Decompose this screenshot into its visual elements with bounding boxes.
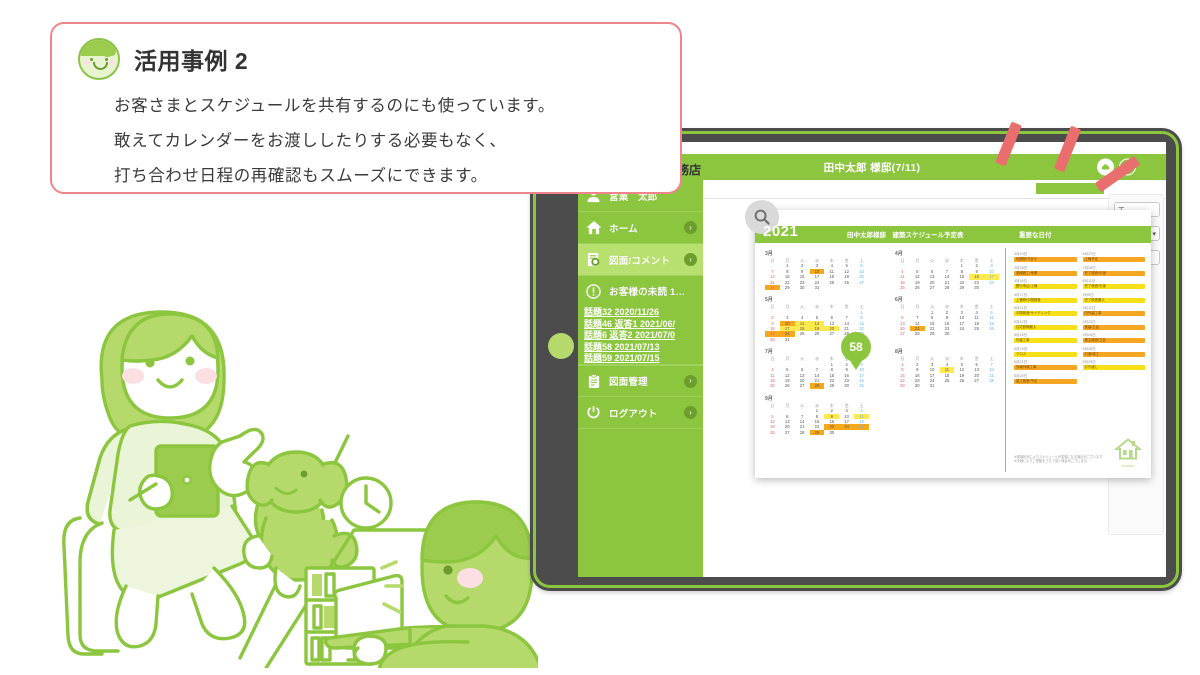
month-table: 日月火水木金土123456789101112131415161718192021… xyxy=(895,304,999,336)
sidebar-item-home[interactable]: ホーム › xyxy=(578,212,703,244)
important-date-item: 9月29日お引渡し xyxy=(1083,360,1146,370)
month-block: 4月日月火水木金土1234567891011121314151617181920… xyxy=(895,250,999,290)
callout-header: 活用事例 2 xyxy=(52,24,680,80)
calendar-day[interactable]: 29 xyxy=(925,331,940,336)
calendar-day[interactable]: 26 xyxy=(780,383,795,388)
important-date-label: 5月17日 xyxy=(1014,320,1077,325)
important-date-item: 5月18日内装工事 xyxy=(1014,333,1077,343)
calendar-day[interactable]: 26 xyxy=(910,285,925,290)
unread-link[interactable]: 話題58 2021/07/13 xyxy=(584,342,703,354)
calendar-day[interactable]: 28 xyxy=(940,285,955,290)
calendar-title: 田中太郎様邸 建築スケジュール予定表 xyxy=(847,229,964,239)
calendar-day[interactable]: 30 xyxy=(765,337,780,342)
tablet-device: 田中太郎 様邸(7/11) 務店 営業 太郎 xyxy=(530,128,1182,591)
calendar-day[interactable] xyxy=(795,337,810,342)
home-button[interactable] xyxy=(548,333,574,359)
app-body: 務店 営業 太郎 ホーム › xyxy=(578,180,1166,577)
important-date-bar: 上棟祭/中間検査 xyxy=(1014,298,1077,303)
calendar-day[interactable] xyxy=(954,383,969,388)
illustration xyxy=(18,268,538,668)
calendar-day[interactable]: 29 xyxy=(810,430,825,435)
calendar-day[interactable]: 31 xyxy=(780,337,795,342)
important-date-bar: 内外装工事 xyxy=(1083,311,1146,316)
important-date-bar: 竣工検査/予定 xyxy=(1014,379,1077,384)
calendar-day[interactable]: 29 xyxy=(824,383,839,388)
important-date-bar: 銀行申込/上棟 xyxy=(1014,284,1077,289)
calendar-day[interactable]: 27 xyxy=(780,430,795,435)
month-grid-area: 58 3月日月火水木金土1234567891011121314151617181… xyxy=(755,246,1005,478)
pin-tail xyxy=(849,359,863,370)
calendar-day[interactable]: 27 xyxy=(895,331,910,336)
important-date-bar: 地鎮祭/착공식 xyxy=(1014,257,1077,262)
calendar-day[interactable]: 26 xyxy=(765,430,780,435)
toolbar-green-bar xyxy=(1036,183,1104,194)
chevron-right-icon[interactable]: › xyxy=(684,221,697,234)
calendar-day[interactable]: 30 xyxy=(795,285,810,290)
calendar-day[interactable] xyxy=(854,430,869,435)
month-block: 6月日月火水木金土1234567891011121314151617181920… xyxy=(895,296,999,342)
calendar-header-bar: 田中太郎様邸 建築スケジュール予定表 重要な日付 xyxy=(755,226,1151,243)
important-dates-panel: 3月10日地鎮祭/착공식3月28日基礎着工/地業4月16日銀行申込/上棟4月17… xyxy=(1005,248,1151,472)
calendar-day[interactable]: 30 xyxy=(910,383,925,388)
sidebar-item-logout[interactable]: ログアウト › xyxy=(578,397,703,429)
main-content: て ▾ 0 › 田中太郎様邸 建築スケジュール予定表 重要な日付 xyxy=(703,180,1166,577)
calendar-day[interactable]: 28 xyxy=(810,383,825,388)
important-date-item: 7月28日完了検査/引渡 xyxy=(1083,266,1146,276)
important-date-item: 9月11日内外装工事 xyxy=(1083,306,1146,316)
important-date-item: 9月23日美装/立会 xyxy=(1083,320,1146,330)
callout-title: 活用事例 2 xyxy=(134,42,248,76)
calendar-day[interactable] xyxy=(824,337,839,342)
important-date-bar: 美装/立会 xyxy=(1083,325,1146,330)
sidebar-unread-label: お客様の未読 1… xyxy=(609,284,685,298)
calendar-day[interactable]: 30 xyxy=(824,430,839,435)
important-date-bar: 基礎着工/地業 xyxy=(1014,271,1077,276)
important-date-label: 9月25日 xyxy=(1083,347,1146,352)
unread-links: 話題32 2020/11/26 話題46 返答1 2021/06/ 話題6 返答… xyxy=(578,306,703,365)
sidebar-unread-list: 話題32 2020/11/26 話題46 返答1 2021/06/ 話題6 返答… xyxy=(578,306,703,365)
month-table: 日月火水木金土123456789101112131415161718192021… xyxy=(765,403,869,435)
document-manage-icon xyxy=(585,373,602,390)
important-date-item: 8月11日完了検査/引渡 xyxy=(1083,279,1146,289)
power-icon xyxy=(585,404,602,421)
house-logo-caption: plustable xyxy=(1113,464,1143,468)
calendar-day[interactable]: 31 xyxy=(925,383,940,388)
home-icon xyxy=(585,219,602,236)
note-line: ※天候によりご連絡をさせて頂く場合がございます。 xyxy=(1014,459,1102,464)
chevron-right-icon[interactable]: › xyxy=(684,375,697,388)
important-date-bar: クロス xyxy=(1014,352,1077,357)
calendar-notes: ※現場状況によりスケジュールが変更になる場合がございます ※天候によりご連絡をさ… xyxy=(1014,455,1102,464)
calendar-day[interactable]: 28 xyxy=(795,430,810,435)
important-date-bar: 内装工事 xyxy=(1014,338,1077,343)
month-table: 日月火水木金土123456789101112131415161718192021… xyxy=(765,258,869,290)
important-date-item: 5月21日外構外構工事 xyxy=(1014,360,1077,370)
calendar-day[interactable]: 31 xyxy=(854,383,869,388)
calendar-day[interactable] xyxy=(839,285,854,290)
important-dates-column-right: 6月27日上棟予定7月28日完了検査/引渡8月11日完了検査/引渡9月9日完了検… xyxy=(1083,252,1146,387)
calendar-day[interactable] xyxy=(810,337,825,342)
calendar-year: 2021 xyxy=(763,223,798,240)
calendar-day[interactable] xyxy=(940,383,955,388)
sidebar-item-logout-label: ログアウト xyxy=(609,406,658,420)
important-date-label: 3月28日 xyxy=(1014,266,1077,271)
important-date-bar: お引渡し xyxy=(1083,365,1146,370)
callout-line: 敢えてカレンダーをお渡ししたりする必要もなく、 xyxy=(114,127,680,151)
calendar-day[interactable]: 28 xyxy=(765,285,780,290)
calendar-day[interactable]: 30 xyxy=(969,285,984,290)
month-label: 5月 xyxy=(765,296,869,303)
sidebar-item-home-label: ホーム xyxy=(609,221,638,235)
calendar-day[interactable]: 29 xyxy=(780,285,795,290)
important-date-item: 4月17日上棟祭/中間検査 xyxy=(1014,293,1077,303)
important-date-item: 3月10日地鎮祭/착공식 xyxy=(1014,252,1077,262)
month-label: 3月 xyxy=(765,250,869,257)
calendar-day[interactable] xyxy=(954,331,969,336)
sidebar-item-drawing-comment-label: 図面/コメント xyxy=(609,253,670,267)
calendar-day[interactable]: 28 xyxy=(910,331,925,336)
important-date-bar: 施主検査/立会 xyxy=(1083,338,1146,343)
important-date-label: 9月9日 xyxy=(1083,293,1146,298)
important-date-label: 5月19日 xyxy=(1014,347,1077,352)
house-logo: plustable xyxy=(1113,438,1143,468)
calendar-day[interactable]: 27 xyxy=(795,383,810,388)
important-date-item: 5月19日クロス xyxy=(1014,347,1077,357)
unread-link[interactable]: 話題6 返答2 2021/07/0 xyxy=(584,330,703,342)
sidebar: 務店 営業 太郎 ホーム › xyxy=(578,180,703,577)
month-block: 9月日月火水木金土1234567891011121314151617181920… xyxy=(765,395,869,435)
chevron-right-icon[interactable]: › xyxy=(684,406,697,419)
unread-link[interactable]: 話題46 返答1 2021/06/ xyxy=(584,319,703,331)
month-block: 8月日月火水木金土1234567891011121314151617181920… xyxy=(895,348,999,388)
calendar-day[interactable]: 27 xyxy=(925,285,940,290)
drawing-comment-icon xyxy=(585,251,602,268)
calendar-day[interactable] xyxy=(969,331,984,336)
important-date-label: 9月23日 xyxy=(1083,320,1146,325)
calendar-columns: 58 3月日月火水木金土1234567891011121314151617181… xyxy=(755,246,1151,478)
month-block: 3月日月火水木金土1234567891011121314151617181920… xyxy=(765,250,869,290)
important-date-item: 5月17日住宅設備搬入 xyxy=(1014,320,1077,330)
calendar-day[interactable] xyxy=(854,285,869,290)
important-date-item: 9月9日完了検査搬入 xyxy=(1083,293,1146,303)
important-date-item: 3月28日基礎着工/地業 xyxy=(1014,266,1077,276)
important-date-bar: 上棟予定 xyxy=(1083,257,1146,262)
important-dates-grid: 3月10日地鎮祭/착공식3月28日基礎着工/地業4月16日銀行申込/上棟4月17… xyxy=(1014,252,1145,387)
month-table: 日月火水木金土123456789101112131415161718192021… xyxy=(895,258,999,290)
important-date-label: 5月24日 xyxy=(1014,374,1077,379)
pin-value: 58 xyxy=(841,332,871,362)
calendar-modal: 田中太郎様邸 建築スケジュール予定表 重要な日付 2021 58 xyxy=(755,210,1151,478)
unread-link[interactable]: 話題32 2020/11/26 xyxy=(584,307,703,319)
calendar-day[interactable]: 25 xyxy=(895,285,910,290)
sidebar-item-document-manage[interactable]: 図面管理 › xyxy=(578,365,703,397)
calendar-day[interactable]: 31 xyxy=(810,285,825,290)
unread-link[interactable]: 話題59 2021/07/15 xyxy=(584,353,703,365)
important-dates-header: 重要な日付 xyxy=(1005,226,1151,243)
important-dates-column-left: 3月10日地鎮祭/착공식3月28日基礎着工/地業4月16日銀行申込/上棟4月17… xyxy=(1014,252,1077,387)
callout-line: 打ち合わせ日程の再確認もスムーズにできます。 xyxy=(114,162,680,186)
exclamation-icon xyxy=(585,283,602,300)
important-date-bar: 完了検査搬入 xyxy=(1083,298,1146,303)
important-date-bar: 中間検査/サイディング xyxy=(1014,311,1077,316)
month-label: 4月 xyxy=(895,250,999,257)
tablet-screen: 田中太郎 様邸(7/11) 務店 営業 太郎 xyxy=(578,142,1166,577)
calendar-day[interactable]: 29 xyxy=(895,383,910,388)
important-date-item: 9月24日施主検査/立会 xyxy=(1083,333,1146,343)
callout-box: 活用事例 2 お客さまとスケジュールを共有するのにも使っています。 敢えてカレン… xyxy=(50,22,682,194)
important-date-item: 9月25日引渡/竣工 xyxy=(1083,347,1146,357)
month-table: 日月火水木金土123456789101112131415161718192021… xyxy=(895,356,999,388)
important-date-bar: 引渡/竣工 xyxy=(1083,352,1146,357)
sidebar-item-drawing-comment[interactable]: 図面/コメント › xyxy=(578,244,703,276)
calendar-day[interactable] xyxy=(839,430,854,435)
sidebar-unread-header: お客様の未読 1… xyxy=(578,276,703,306)
important-date-item: 5月11日中間検査/サイディング xyxy=(1014,306,1077,316)
app-header-title: 田中太郎 様邸(7/11) xyxy=(824,160,921,175)
month-label: 6月 xyxy=(895,296,999,303)
important-date-bar: 完了検査/引渡 xyxy=(1083,271,1146,276)
month-label: 8月 xyxy=(895,348,999,355)
important-date-item: 4月16日銀行申込/上棟 xyxy=(1014,279,1077,289)
calendar-day[interactable] xyxy=(984,383,999,388)
important-date-item: 5月24日竣工検査/予定 xyxy=(1014,374,1077,384)
calendar-day[interactable]: 30 xyxy=(839,383,854,388)
important-date-bar: 完了検査/引渡 xyxy=(1083,284,1146,289)
important-date-bar: 外構外構工事 xyxy=(1014,365,1077,370)
important-date-label: 7月28日 xyxy=(1083,266,1146,271)
callout-body: お客さまとスケジュールを共有するのにも使っています。 敢えてカレンダーをお渡しし… xyxy=(52,80,680,186)
calendar-day[interactable] xyxy=(984,285,999,290)
smiling-face-badge-icon xyxy=(78,38,120,80)
important-date-item: 6月27日上棟予定 xyxy=(1083,252,1146,262)
calendar-day[interactable]: 25 xyxy=(765,383,780,388)
calendar-day[interactable] xyxy=(969,383,984,388)
illustration-svg xyxy=(18,268,538,668)
sidebar-item-document-manage-label: 図面管理 xyxy=(609,374,648,388)
callout-line: お客さまとスケジュールを共有するのにも使っています。 xyxy=(114,92,680,116)
important-date-label: 4月17日 xyxy=(1014,293,1077,298)
chevron-right-icon[interactable]: › xyxy=(684,253,697,266)
schedule-pin-marker[interactable]: 58 xyxy=(841,332,871,370)
calendar-day[interactable] xyxy=(984,331,999,336)
important-date-bar: 住宅設備搬入 xyxy=(1014,325,1077,330)
calendar-day[interactable]: 29 xyxy=(954,285,969,290)
calendar-day[interactable] xyxy=(824,285,839,290)
month-label: 9月 xyxy=(765,395,869,402)
important-dates-title: 重要な日付 xyxy=(1019,229,1052,239)
calendar-day[interactable]: 30 xyxy=(940,331,955,336)
